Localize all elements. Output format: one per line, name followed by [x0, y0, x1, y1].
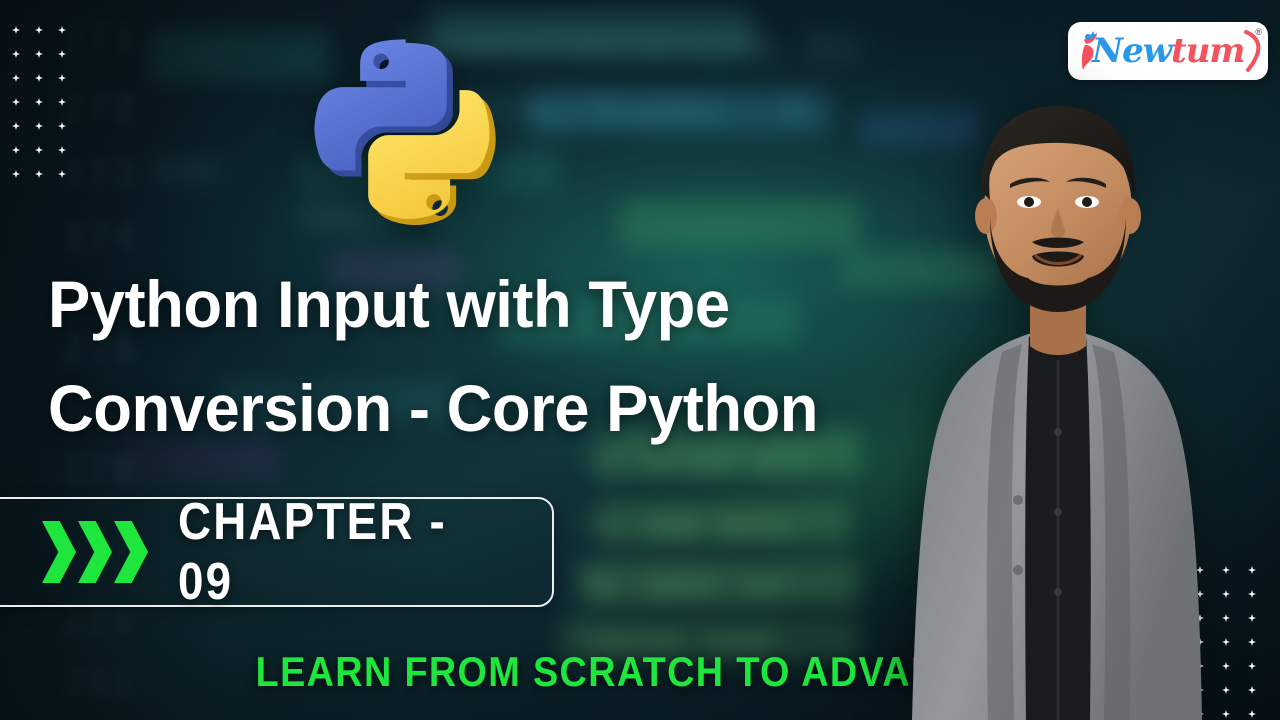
chapter-label: CHAPTER - 09 [178, 492, 507, 612]
decorative-dot [1222, 566, 1230, 574]
decorative-dot [1222, 638, 1230, 646]
python-logo [305, 22, 515, 237]
decorative-dot [1222, 590, 1230, 598]
chevron-right-icon [114, 521, 148, 583]
decorative-dot [12, 50, 20, 58]
presenter-photo [892, 60, 1222, 720]
decorative-dot [58, 50, 66, 58]
decorative-dot [12, 98, 20, 106]
chevron-right-icon [42, 521, 76, 583]
decorative-dot [12, 122, 20, 130]
page-title: Python Input with Type Conversion - Core… [48, 252, 908, 460]
decorative-dot [58, 122, 66, 130]
decorative-dot [1248, 566, 1256, 574]
chevron-right-icon [78, 521, 112, 583]
title-line-1: Python Input with Type [48, 252, 874, 356]
decorative-dot [35, 50, 43, 58]
decorative-dot [35, 170, 43, 178]
decorative-dot [58, 74, 66, 82]
decorative-dot [1248, 590, 1256, 598]
decorative-dot [12, 170, 20, 178]
chapter-badge: CHAPTER - 09 [0, 497, 554, 607]
decorative-dot [58, 98, 66, 106]
decorative-dot [35, 74, 43, 82]
chevron-group-icon [42, 521, 148, 583]
decorative-dot [1222, 614, 1230, 622]
decorative-dot [1248, 614, 1256, 622]
decorative-dot [58, 170, 66, 178]
decorative-dot [1248, 638, 1256, 646]
thumbnail-canvas: ConsoleToColors(15, 1);SetTitle("Project… [0, 0, 1280, 720]
decorative-dot [12, 146, 20, 154]
decorative-dot [12, 74, 20, 82]
decorative-dot [35, 146, 43, 154]
registered-trademark-symbol: ® [1255, 27, 1262, 37]
dot-grid-top-left [12, 26, 72, 186]
decorative-dot [12, 26, 20, 34]
decorative-dot [35, 122, 43, 130]
decorative-dot [58, 146, 66, 154]
decorative-dot [58, 26, 66, 34]
title-line-2: Conversion - Core Python [48, 356, 874, 460]
decorative-dot [35, 98, 43, 106]
decorative-dot [35, 26, 43, 34]
